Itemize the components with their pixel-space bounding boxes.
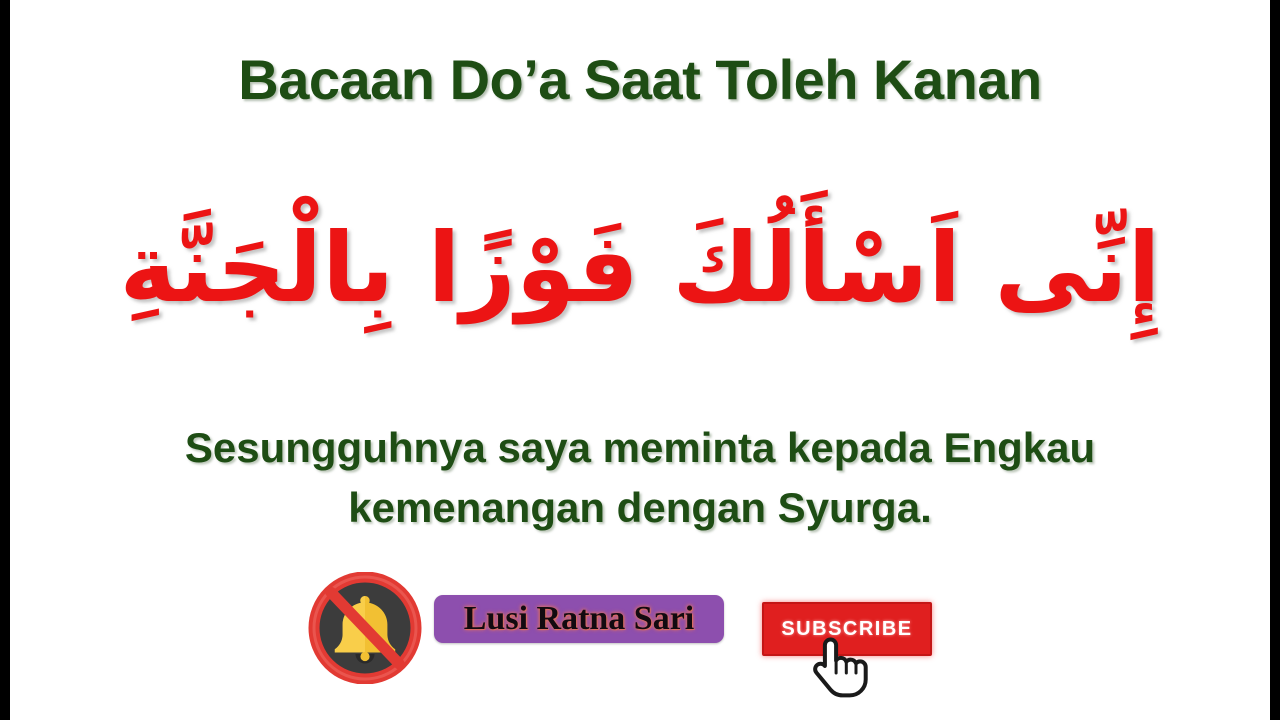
channel-name-badge: Lusi Ratna Sari bbox=[434, 595, 724, 643]
no-bell-icon-graphic bbox=[300, 572, 430, 684]
slide-canvas: Bacaan Do’a Saat Toleh Kanan إِنِّى اَسْ… bbox=[10, 0, 1270, 720]
channel-name-label: Lusi Ratna Sari bbox=[464, 600, 695, 638]
pointing-hand-cursor-icon bbox=[806, 636, 874, 698]
arabic-dua-text: إِنِّى اَسْأَلُكَ فَوْزًا بِالْجَنَّةِ bbox=[10, 160, 1270, 375]
subscribe-cta: SUBSCRIBE bbox=[760, 600, 935, 695]
letterbox-bar-left bbox=[0, 0, 10, 720]
no-bell-icon[interactable] bbox=[300, 572, 430, 684]
video-slide: Bacaan Do’a Saat Toleh Kanan إِنِّى اَسْ… bbox=[0, 0, 1280, 720]
pointing-hand-cursor-graphic bbox=[806, 636, 874, 698]
translation-block: Sesungguhnya saya meminta kepada Engkau … bbox=[50, 418, 1230, 538]
letterbox-bar-right bbox=[1270, 0, 1280, 720]
footer-cta-row: Lusi Ratna Sari SUBSCRIBE bbox=[10, 570, 1270, 695]
translation-line-1: Sesungguhnya saya meminta kepada Engkau bbox=[50, 418, 1230, 478]
page-title: Bacaan Do’a Saat Toleh Kanan bbox=[10, 48, 1270, 112]
translation-line-2: kemenangan dengan Syurga. bbox=[50, 478, 1230, 538]
